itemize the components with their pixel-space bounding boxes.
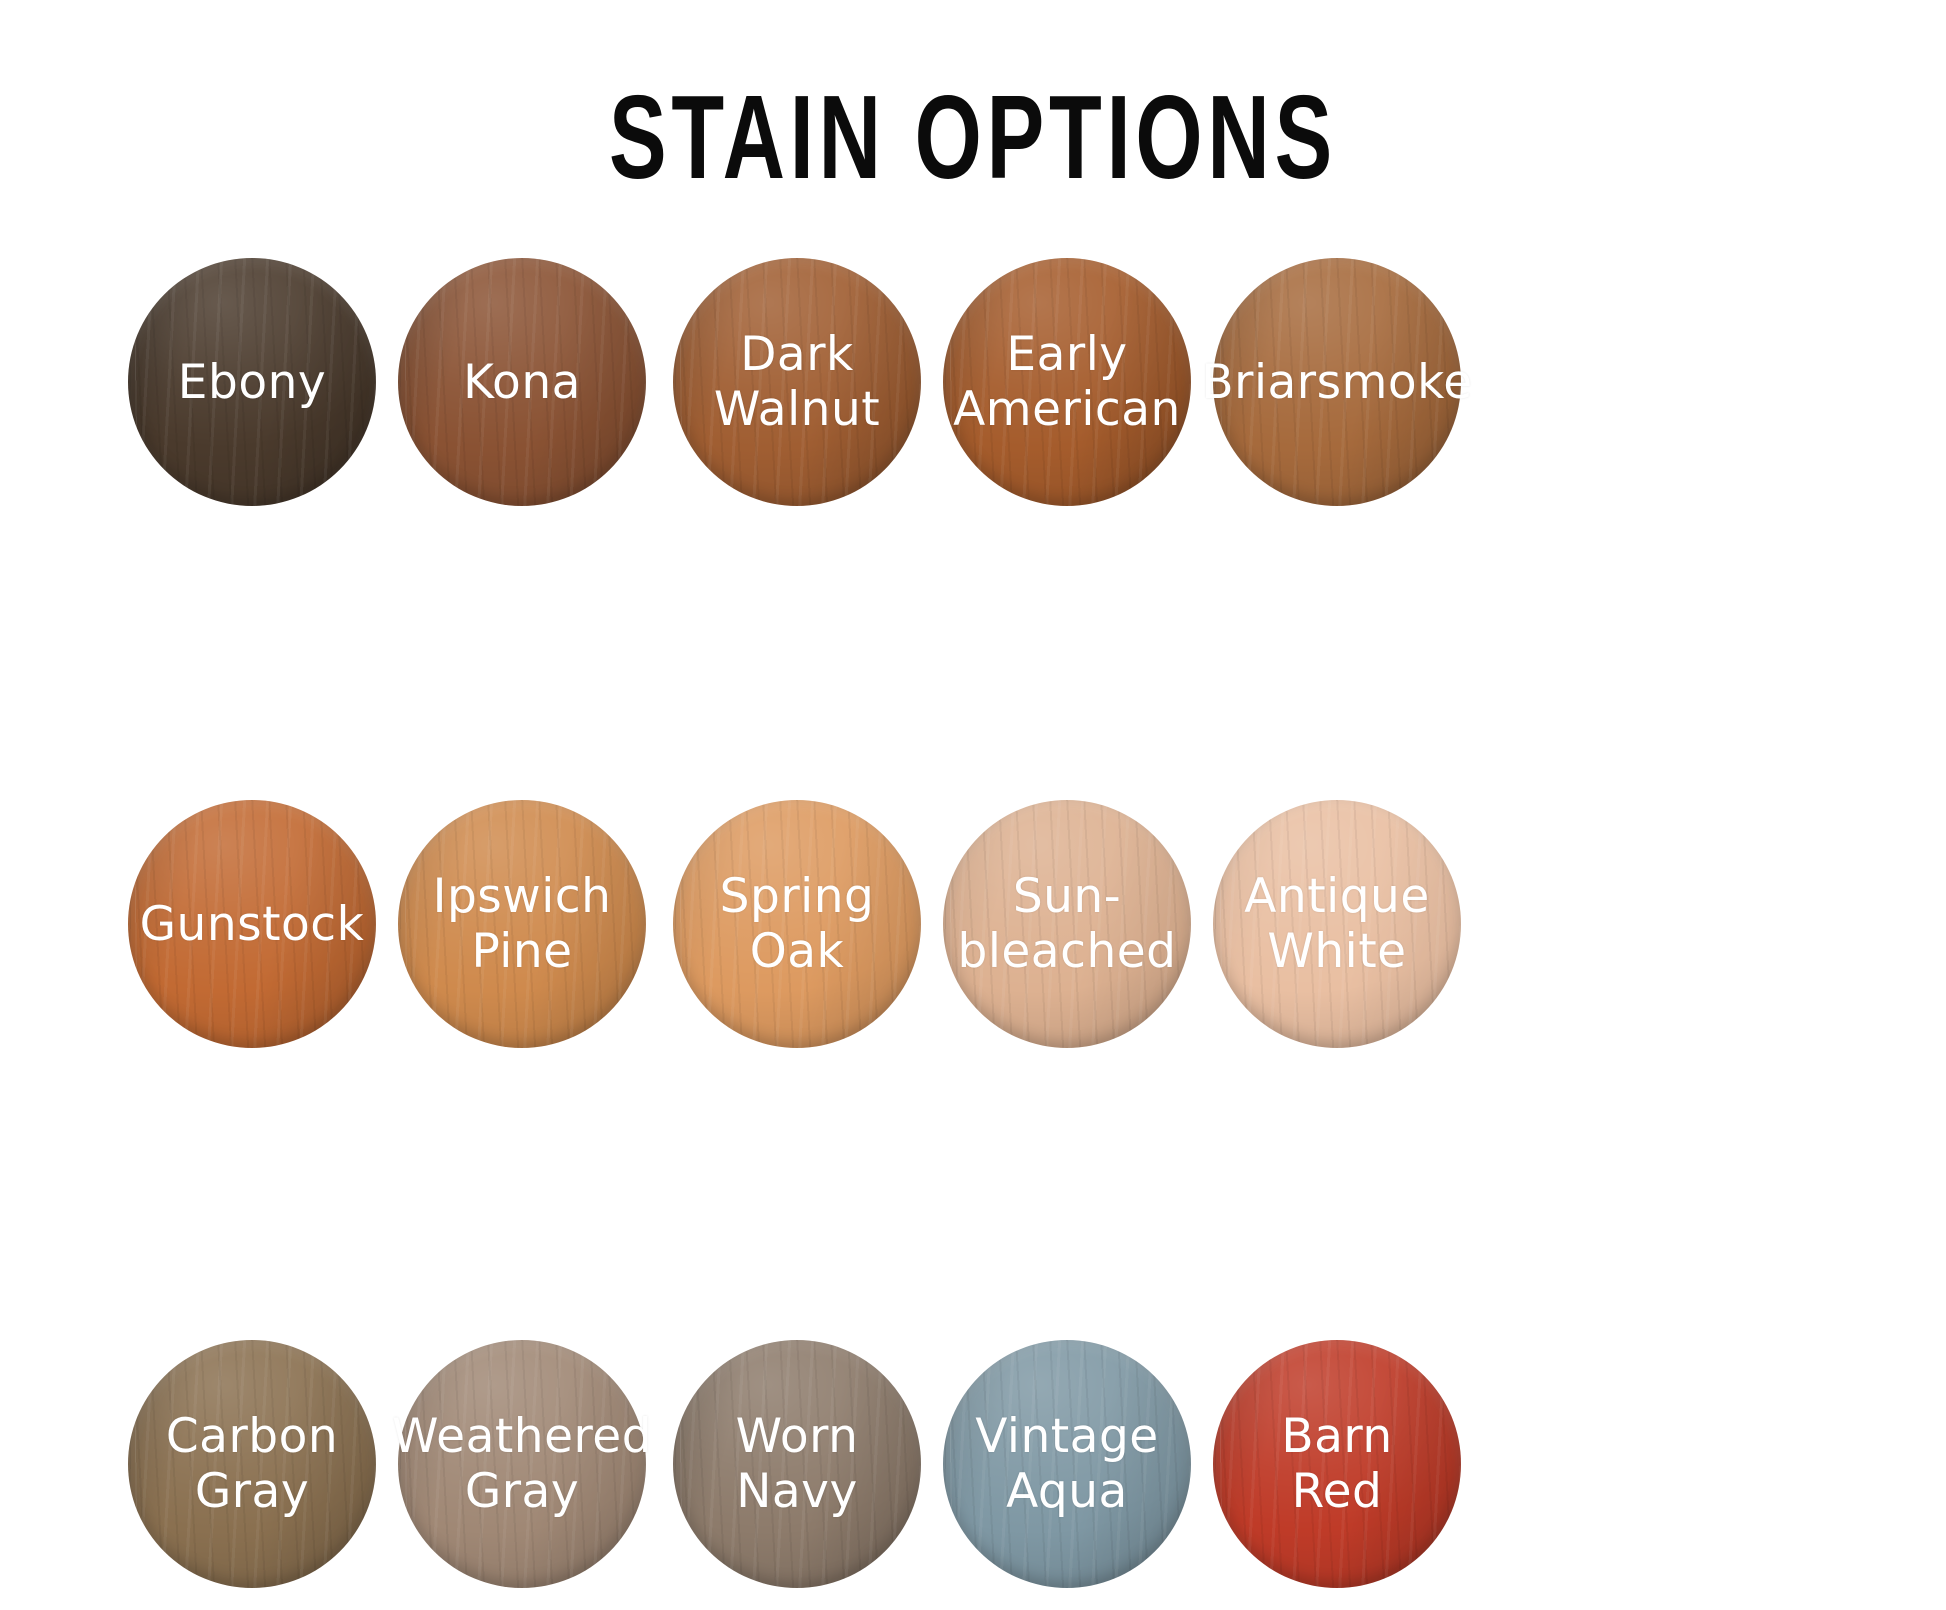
swatch-disc (1213, 258, 1461, 506)
stain-swatch-weathered-gray[interactable]: Weathered Gray (398, 1340, 646, 1588)
stain-options-page: STAIN OPTIONS Ebony Kona Dark Walnut Ear… (0, 0, 1946, 1459)
swatch-row: Ebony Kona Dark Walnut Early American Br… (128, 258, 1828, 528)
stain-swatch-sun-bleached[interactable]: Sun- bleached (943, 800, 1191, 1048)
stain-swatch-worn-navy[interactable]: Worn Navy (673, 1340, 921, 1588)
stain-swatch-dark-walnut[interactable]: Dark Walnut (673, 258, 921, 506)
stain-swatch-barn-red[interactable]: Barn Red (1213, 1340, 1461, 1588)
swatch-disc (398, 800, 646, 1048)
swatch-disc (398, 258, 646, 506)
swatch-row: Carbon Gray Weathered Gray Worn Navy Vin… (128, 1340, 1828, 1610)
swatch-disc (128, 258, 376, 506)
swatch-disc (128, 800, 376, 1048)
stain-swatch-early-american[interactable]: Early American (943, 258, 1191, 506)
swatch-disc (943, 258, 1191, 506)
swatch-disc (673, 1340, 921, 1588)
stain-swatch-ebony[interactable]: Ebony (128, 258, 376, 506)
swatch-disc (943, 800, 1191, 1048)
stain-swatch-vintage-aqua[interactable]: Vintage Aqua (943, 1340, 1191, 1588)
stain-swatch-spring-oak[interactable]: Spring Oak (673, 800, 921, 1048)
page-title: STAIN OPTIONS (195, 78, 1752, 197)
swatch-disc (1213, 1340, 1461, 1588)
stain-swatch-carbon-gray[interactable]: Carbon Gray (128, 1340, 376, 1588)
stain-swatch-grid: Ebony Kona Dark Walnut Early American Br… (128, 258, 1828, 1068)
swatch-disc (943, 1340, 1191, 1588)
stain-swatch-antique-white[interactable]: Antique White (1213, 800, 1461, 1048)
swatch-disc (1213, 800, 1461, 1048)
swatch-disc (673, 258, 921, 506)
swatch-disc (398, 1340, 646, 1588)
swatch-row: Gunstock Ipswich Pine Spring Oak Sun- bl… (128, 800, 1828, 1070)
stain-swatch-kona[interactable]: Kona (398, 258, 646, 506)
swatch-disc (673, 800, 921, 1048)
stain-swatch-gunstock[interactable]: Gunstock (128, 800, 376, 1048)
stain-swatch-briarsmoke[interactable]: Briarsmoke (1213, 258, 1461, 506)
swatch-disc (128, 1340, 376, 1588)
stain-swatch-ipswich-pine[interactable]: Ipswich Pine (398, 800, 646, 1048)
